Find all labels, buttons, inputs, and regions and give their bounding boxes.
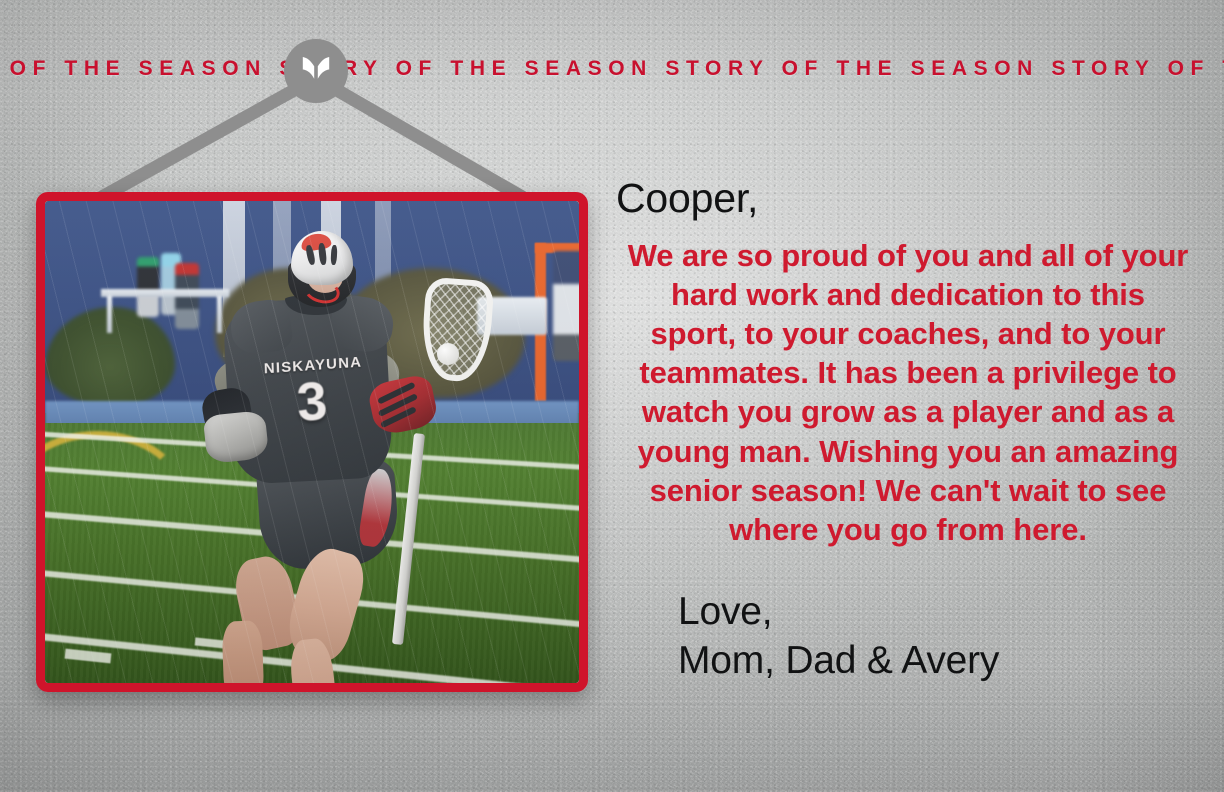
photo-table-leg-b bbox=[217, 295, 222, 333]
jersey-number: 3 bbox=[275, 373, 349, 432]
message-line: watch you grow as a player and as a bbox=[612, 392, 1204, 431]
message-line: senior season! We can't wait to see bbox=[612, 471, 1204, 510]
signoff-line-2: Mom, Dad & Avery bbox=[678, 636, 1212, 685]
message-body: We are so proud of you and all of your h… bbox=[612, 236, 1204, 548]
photo-table-leg-a bbox=[107, 295, 112, 333]
open-book-badge bbox=[284, 39, 348, 103]
message-line: where you go from here. bbox=[612, 510, 1204, 549]
signoff-line-1: Love, bbox=[678, 587, 1212, 636]
message-line: We are so proud of you and all of your bbox=[612, 236, 1204, 275]
message-panel: Cooper, We are so proud of you and all o… bbox=[604, 176, 1212, 685]
lacrosse-ball bbox=[437, 343, 459, 365]
story-of-the-season-card: TORY OF THE SEASON STORY OF THE SEASON S… bbox=[0, 0, 1224, 792]
message-line: hard work and dedication to this bbox=[612, 275, 1204, 314]
signoff: Love, Mom, Dad & Avery bbox=[678, 587, 1212, 685]
player-left-shin bbox=[222, 620, 265, 683]
photo-goalie bbox=[553, 251, 579, 361]
salutation: Cooper, bbox=[616, 176, 1212, 220]
player-photo: NISKAYUNA 3 bbox=[45, 201, 579, 683]
photo-spectator-1 bbox=[137, 257, 159, 317]
photo-table bbox=[101, 289, 229, 297]
message-line: sport, to your coaches, and to your bbox=[612, 314, 1204, 353]
open-book-icon bbox=[297, 52, 335, 90]
photo-frame: NISKAYUNA 3 bbox=[36, 192, 588, 692]
message-line: young man. Wishing you an amazing bbox=[612, 432, 1204, 471]
message-line: teammates. It has been a privilege to bbox=[612, 353, 1204, 392]
